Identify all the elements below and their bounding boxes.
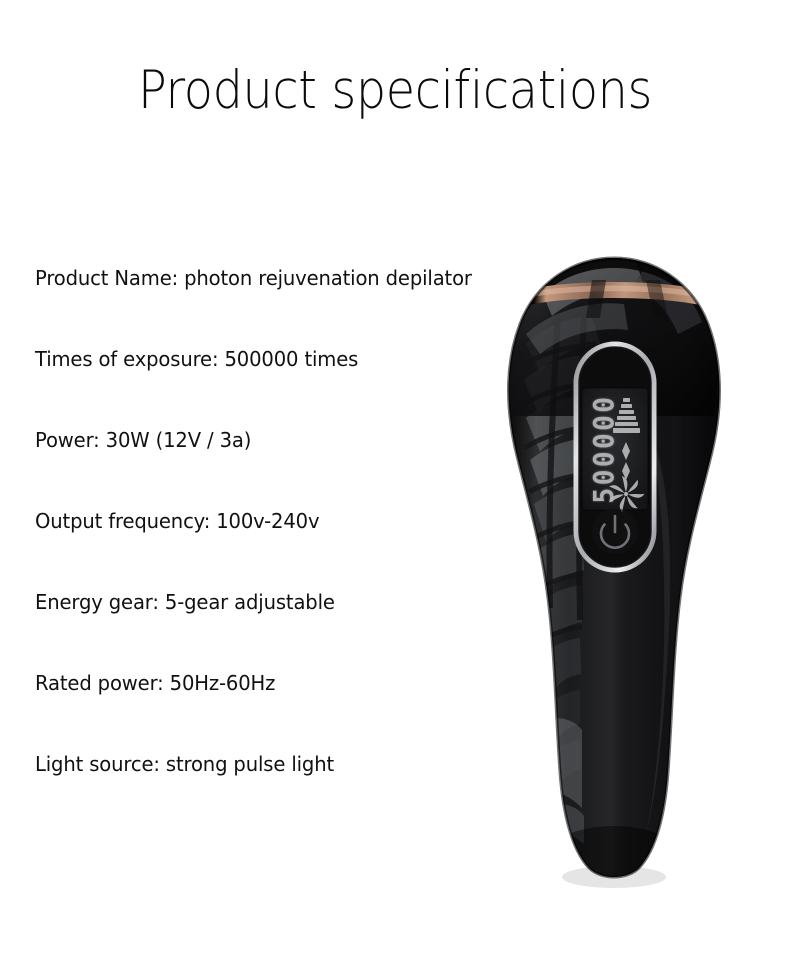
product-specification-page: Product specifications Product Name: pho… [0, 0, 790, 957]
spec-row-energy-gear: Energy gear: 5-gear adjustable [35, 592, 532, 673]
spec-row-rated-power: Rated power: 50Hz-60Hz [35, 673, 532, 754]
lcd-screen [582, 388, 648, 510]
spec-row-power: Power: 30W (12V / 3a) [35, 430, 532, 511]
spec-row-output-frequency: Output frequency: 100v-240v [35, 511, 532, 592]
power-button[interactable] [592, 508, 638, 554]
page-title: Product specifications [40, 62, 751, 119]
product-image-depilator: 500000 [496, 248, 732, 896]
spec-row-light-source: Light source: strong pulse light [35, 754, 532, 835]
spec-row-product-name: Product Name: photon rejuvenation depila… [35, 268, 532, 349]
spec-row-times-of-exposure: Times of exposure: 500000 times [35, 349, 532, 430]
specification-list: Product Name: photon rejuvenation depila… [35, 268, 555, 835]
